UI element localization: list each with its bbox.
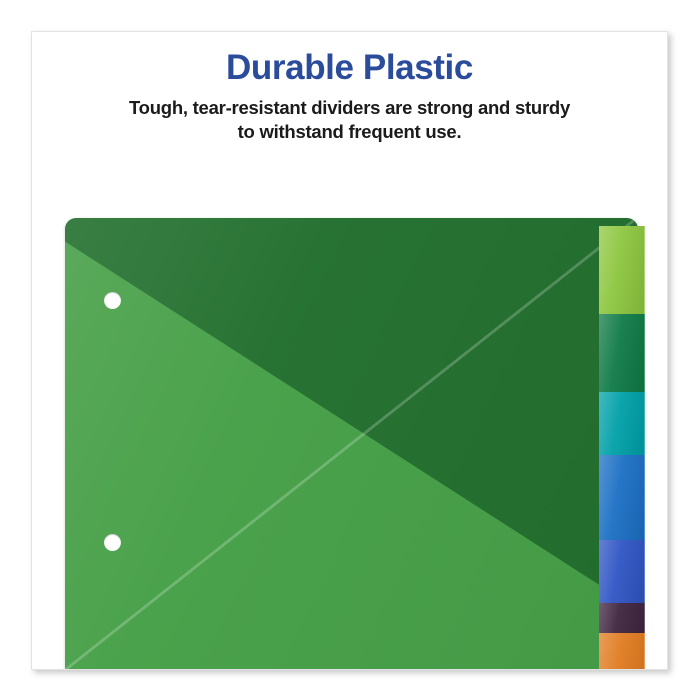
tab-6-purple: [599, 603, 645, 633]
page-title: Durable Plastic: [32, 32, 667, 87]
index-tab-stack: [599, 226, 644, 670]
divider-sheet-front: [65, 218, 638, 670]
punch-hole-top: [104, 292, 121, 309]
tab-3-teal: [599, 392, 645, 455]
tab-2-dark-green: [599, 314, 645, 392]
headline-block: Durable Plastic Tough, tear-resistant di…: [32, 32, 667, 145]
tab-1-light-green: [599, 226, 645, 314]
punch-hole-bottom: [104, 534, 121, 551]
diagonal-pocket-flap: [65, 218, 638, 670]
tab-4-blue: [599, 455, 645, 540]
tab-5-royal-blue: [599, 540, 645, 603]
subtitle: Tough, tear-resistant dividers are stron…: [60, 87, 640, 145]
subtitle-line-2: to withstand frequent use.: [60, 120, 640, 145]
tab-7-orange: [599, 633, 645, 670]
subtitle-line-1: Tough, tear-resistant dividers are stron…: [60, 96, 640, 121]
product-feature-card: Durable Plastic Tough, tear-resistant di…: [31, 31, 668, 670]
product-photo: [32, 185, 668, 670]
